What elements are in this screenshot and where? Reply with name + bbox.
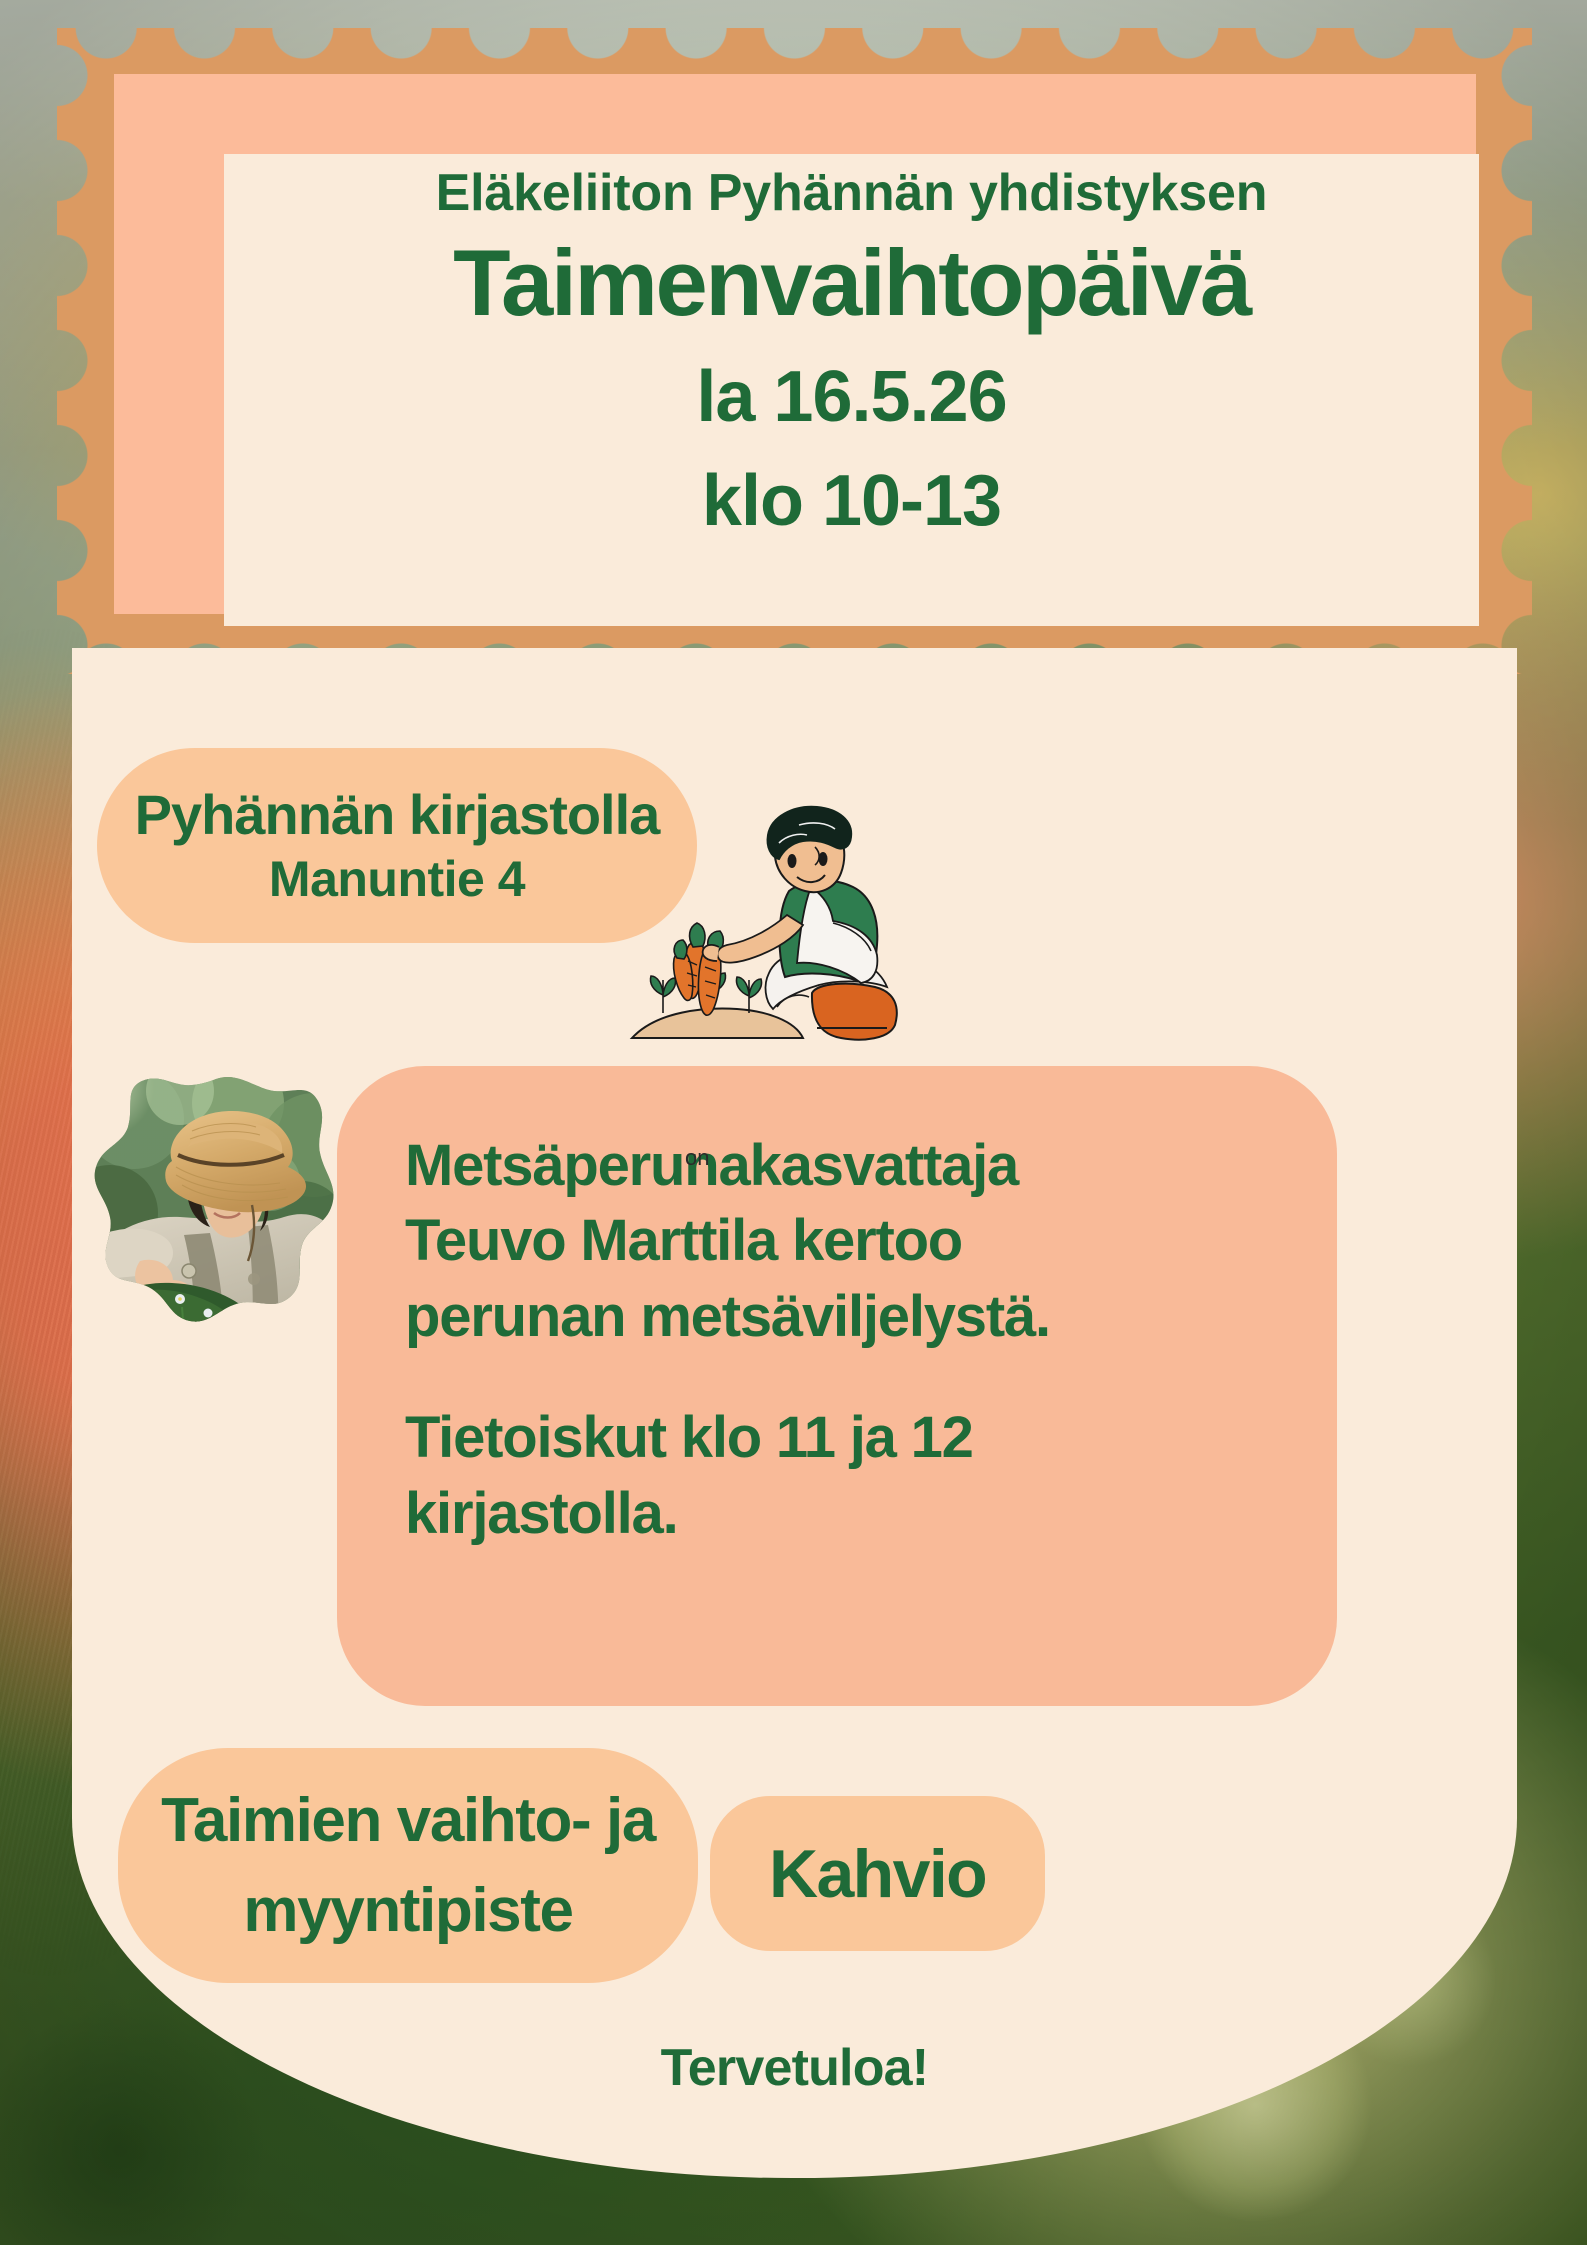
body-card: Pyhännän kirjastolla Manuntie 4 [72, 648, 1517, 2178]
info-panel: Metsäperunakasvattaja on Teuvo Marttila … [337, 1066, 1337, 1706]
stamp-frame: Eläkeliiton Pyhännän yhdistyksen Taimenv… [57, 28, 1532, 674]
exchange-pill: Taimien vaihto- ja myyntipiste [118, 1748, 698, 1983]
location-line-1: Pyhännän kirjastolla [135, 782, 660, 848]
location-line-2: Manuntie 4 [269, 849, 525, 909]
location-pill: Pyhännän kirjastolla Manuntie 4 [97, 748, 697, 943]
info-line-1: Metsäperunakasvattaja on [405, 1128, 1337, 1203]
gardening-photo [88, 1075, 338, 1335]
info-panel-spacer [405, 1354, 1337, 1400]
welcome-text: Tervetuloa! [72, 2038, 1517, 2098]
info-line-1-text: Metsäperunakasvattaja [405, 1133, 1018, 1198]
header-kicker: Eläkeliiton Pyhännän yhdistyksen [436, 164, 1268, 222]
poster-root: Eläkeliiton Pyhännän yhdistyksen Taimenv… [0, 0, 1587, 2245]
exchange-line-2: myyntipiste [243, 1866, 572, 1956]
header-date-line: la 16.5.26 [696, 351, 1006, 443]
header-headline: Taimenvaihtopäivä [453, 228, 1250, 339]
exchange-line-1: Taimien vaihto- ja [161, 1776, 655, 1866]
stamp-inner-border: Eläkeliiton Pyhännän yhdistyksen Taimenv… [114, 74, 1476, 614]
info-line-3: perunan metsäviljelystä. [405, 1279, 1337, 1354]
header-panel: Eläkeliiton Pyhännän yhdistyksen Taimenv… [224, 154, 1479, 626]
info-line-4: Tietoiskut klo 11 ja 12 [405, 1400, 1337, 1475]
header-time-line: klo 10-13 [702, 455, 1001, 547]
info-line-5: kirjastolla. [405, 1476, 1337, 1551]
superscript-note: on [685, 1144, 709, 1173]
cafe-label: Kahvio [769, 1835, 986, 1913]
gardener-illustration [627, 795, 927, 1045]
cafe-pill: Kahvio [710, 1796, 1045, 1951]
info-line-2: Teuvo Marttila kertoo [405, 1203, 1337, 1278]
